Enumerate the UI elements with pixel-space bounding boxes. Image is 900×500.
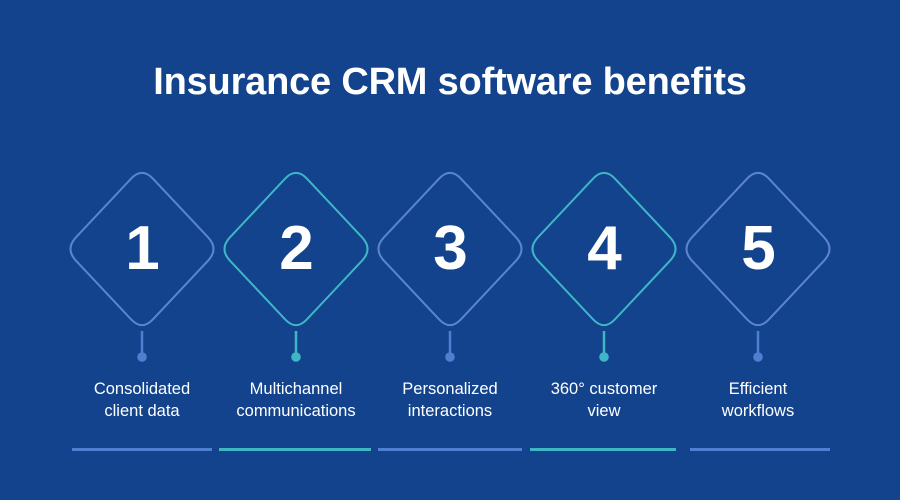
connector-dot — [137, 352, 147, 362]
page-title: Insurance CRM software benefits — [0, 62, 900, 104]
step-label-4: 360° customer view — [524, 378, 684, 422]
step-underline-bar — [690, 448, 830, 451]
connector-dot — [599, 352, 609, 362]
connector-dot — [753, 352, 763, 362]
step-number-5: 5 — [698, 218, 818, 280]
step-underline-bar — [219, 448, 371, 451]
connector-dot — [291, 352, 301, 362]
step-underline-bar — [378, 448, 522, 451]
step-label-2: Multichannel communications — [216, 378, 376, 422]
step-number-4: 4 — [544, 218, 664, 280]
connector-dot — [445, 352, 455, 362]
step-label-3: Personalized interactions — [370, 378, 530, 422]
step-underline-bar — [530, 448, 676, 451]
step-label-5: Efficient workflows — [678, 378, 838, 422]
step-number-2: 2 — [236, 218, 356, 280]
step-number-1: 1 — [82, 218, 202, 280]
step-number-3: 3 — [390, 218, 510, 280]
step-label-1: Consolidated client data — [62, 378, 222, 422]
step-underline-bar — [72, 448, 212, 451]
infographic-canvas: Insurance CRM software benefits 12345 Co… — [0, 0, 900, 500]
